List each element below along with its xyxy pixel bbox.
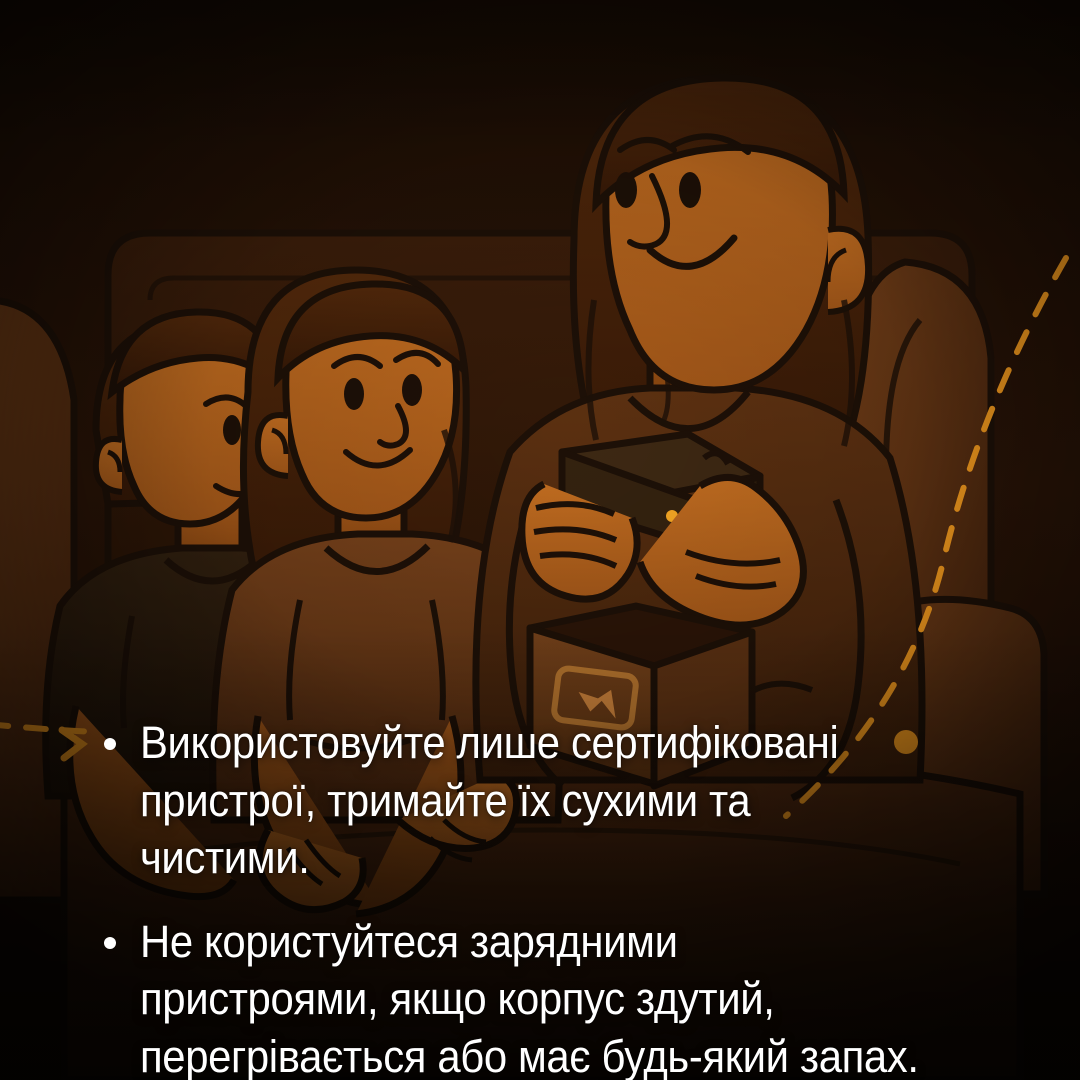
bullet-item-1: Використовуйте лише сертифіковані пристр…	[104, 714, 984, 887]
bullet-text-1: Використовуйте лише сертифіковані пристр…	[140, 714, 925, 887]
bullet-point-icon	[104, 937, 116, 949]
infographic-canvas: Використовуйте лише сертифіковані пристр…	[0, 0, 1080, 1080]
bullet-item-2: Не користуйтеся зарядними пристроями, як…	[104, 913, 984, 1080]
bullet-point-icon	[104, 738, 116, 750]
caption-block: Використовуйте лише сертифіковані пристр…	[104, 714, 984, 1080]
bullet-text-2: Не користуйтеся зарядними пристроями, як…	[140, 913, 925, 1080]
